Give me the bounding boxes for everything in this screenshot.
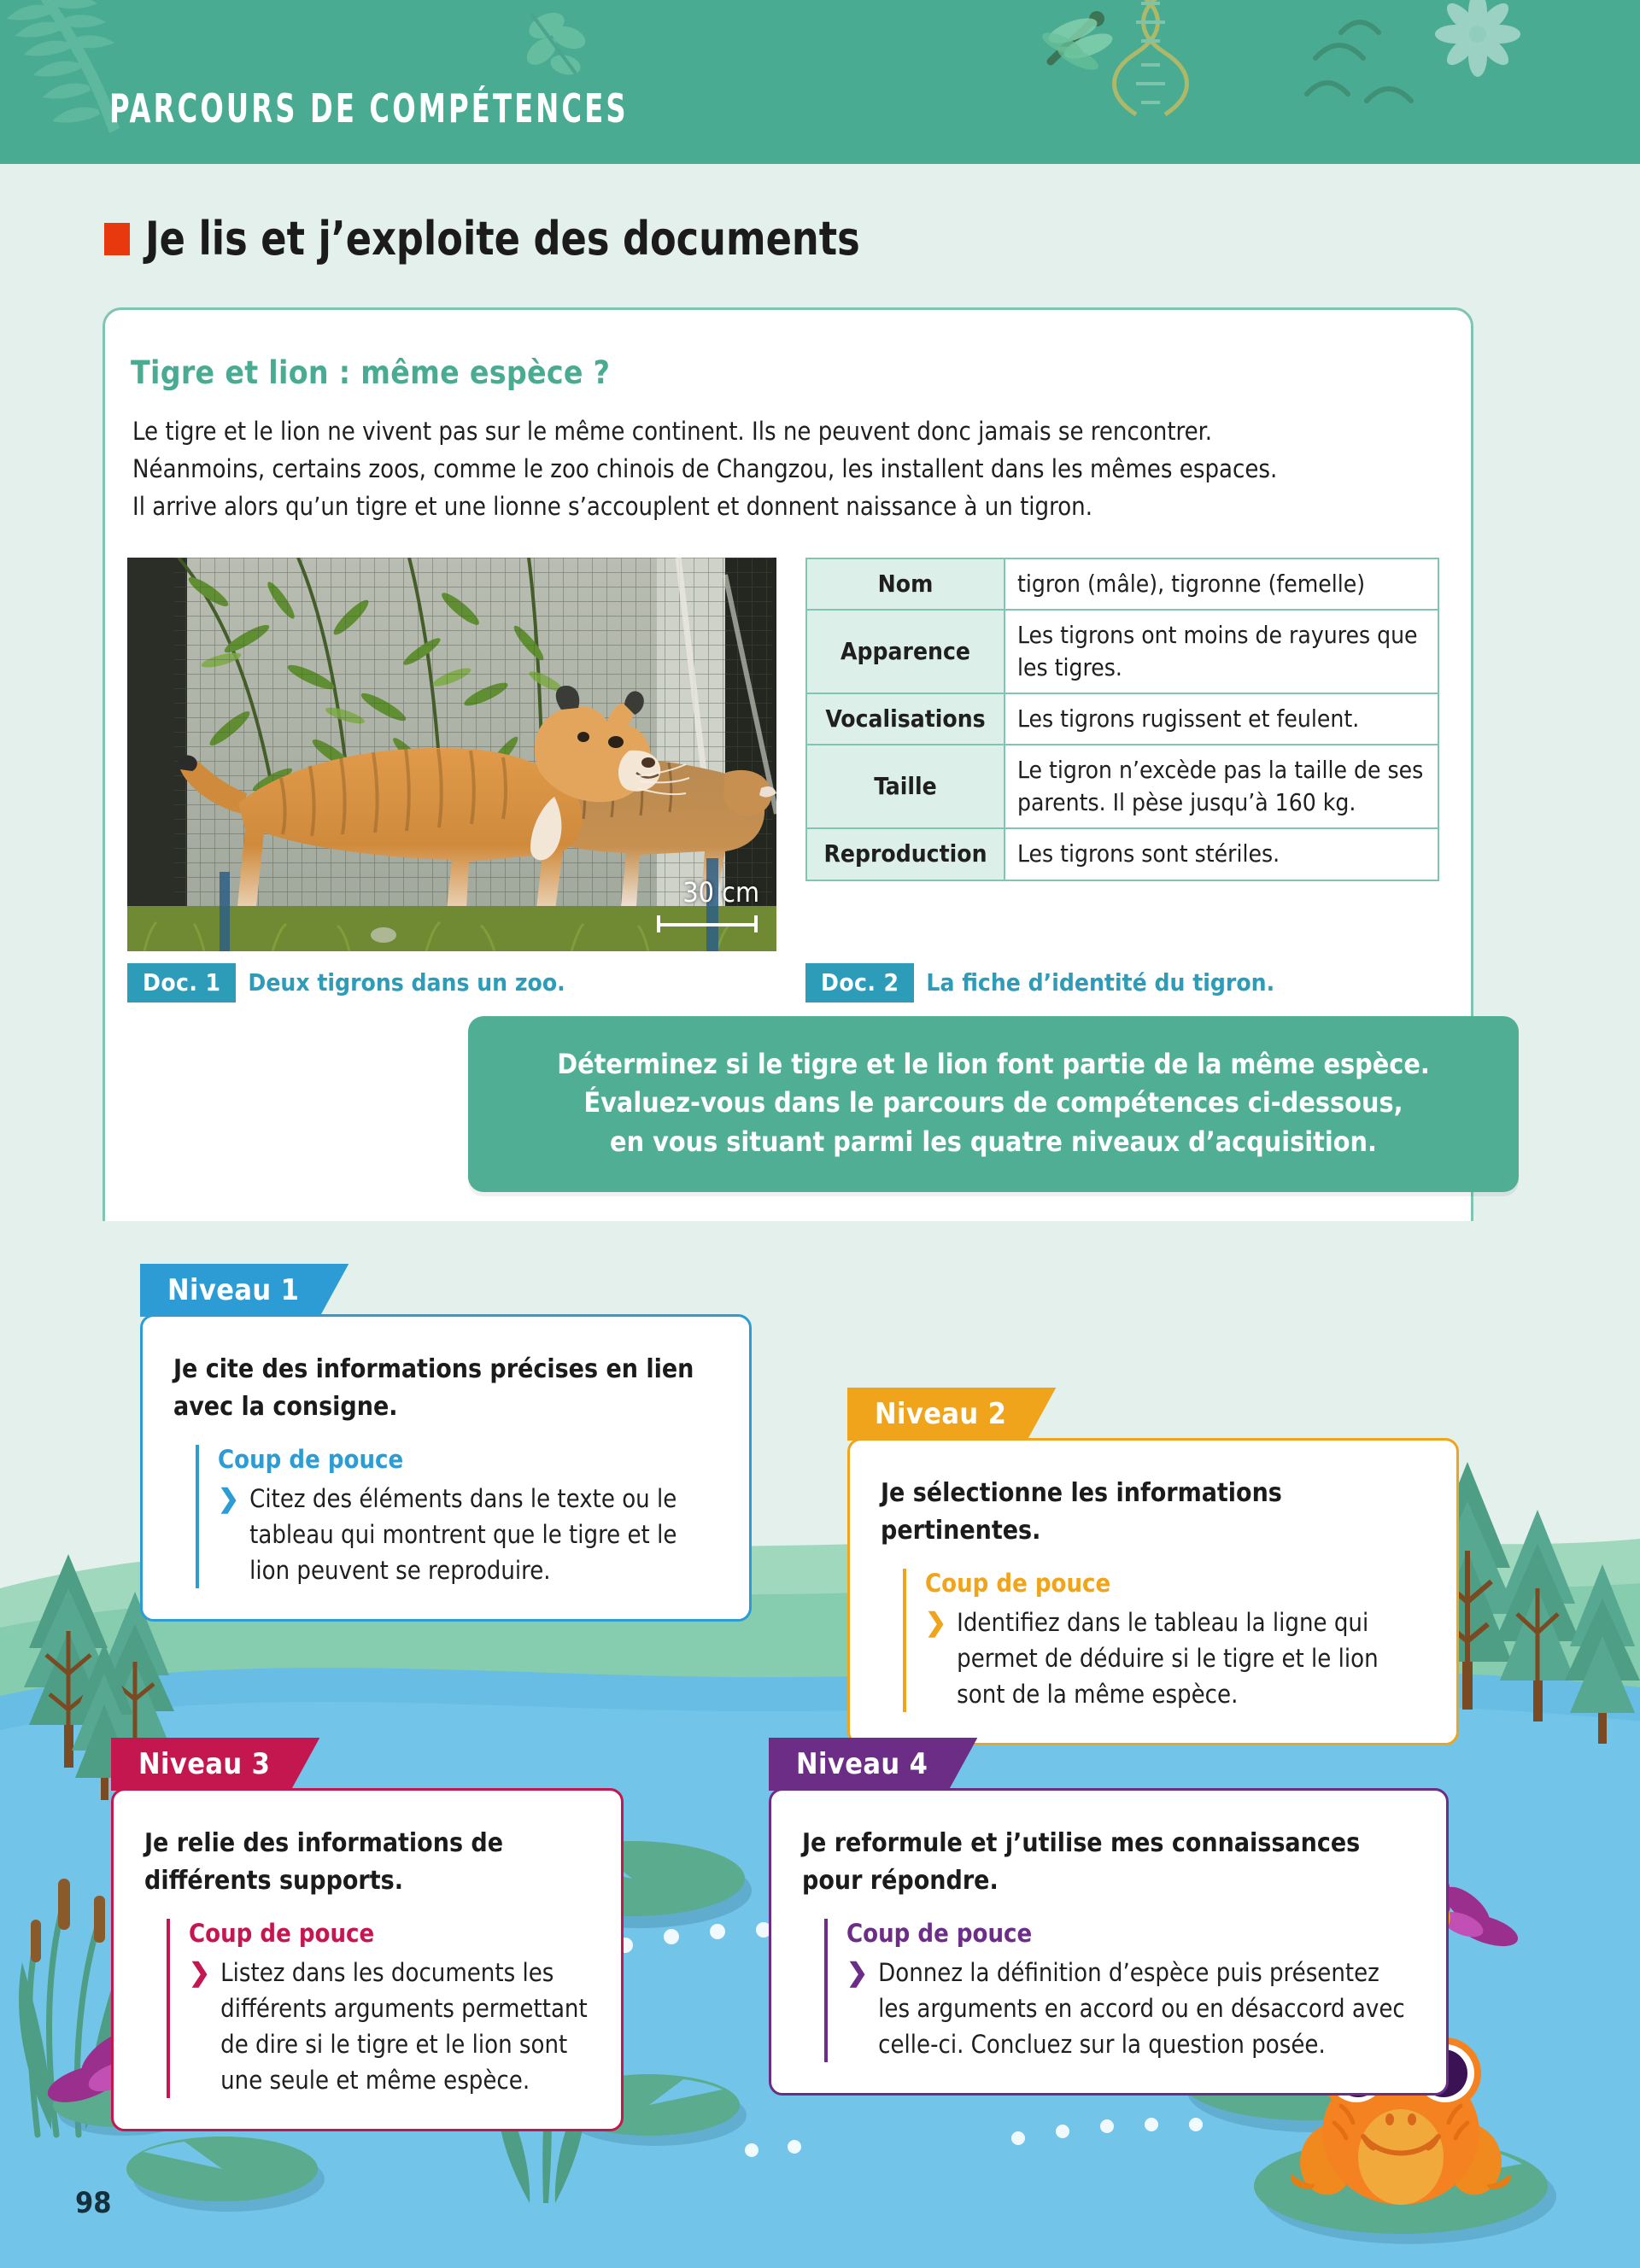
page-title: Je lis et j’exploite des documents bbox=[104, 212, 922, 266]
hint-text: Listez dans les documents les différents… bbox=[220, 1955, 590, 2098]
hint-accent-bar bbox=[196, 1445, 199, 1588]
document-intro-text: Le tigre et le lion ne vivent pas sur le… bbox=[132, 412, 1328, 525]
table-row: Vocalisations Les tigrons rugissent et f… bbox=[806, 693, 1438, 745]
doc1-photo: 30 cm bbox=[127, 558, 776, 951]
level-1-tab: Niveau 1 bbox=[140, 1264, 348, 1317]
photo-scale-label: 30 cm bbox=[682, 876, 759, 909]
level-4-tab: Niveau 4 bbox=[769, 1738, 977, 1791]
doc1-caption-text: Deux tigrons dans un zoo. bbox=[236, 963, 565, 1002]
table-value: Les tigrons rugissent et feulent. bbox=[1004, 693, 1438, 745]
table-row: Taille Le tigron n’excède pas la taille … bbox=[806, 745, 1438, 828]
table-value: tigron (mâle), tigronne (femelle) bbox=[1004, 558, 1438, 610]
table-row: Reproduction Les tigrons sont stériles. bbox=[806, 828, 1438, 880]
hint-text: Identifiez dans le tableau la ligne qui … bbox=[957, 1605, 1426, 1712]
chevron-right-icon: ❯ bbox=[925, 1605, 946, 1642]
table-row: Nom tigron (mâle), tigronne (femelle) bbox=[806, 558, 1438, 610]
level-2-statement: Je sélectionne les informations pertinen… bbox=[881, 1475, 1426, 1550]
level-1-statement: Je cite des informations précises en lie… bbox=[173, 1351, 718, 1426]
level-card-1: Niveau 1 Je cite des informations précis… bbox=[140, 1264, 752, 1622]
instruction-line-1: Déterminez si le tigre et le lion font p… bbox=[502, 1045, 1485, 1084]
hint-text: Citez des éléments dans le texte ou le t… bbox=[249, 1481, 718, 1588]
doc1-badge: Doc. 1 bbox=[127, 963, 236, 1002]
hint-text: Donnez la définition d’espèce puis prése… bbox=[878, 1955, 1415, 2062]
page-number: 98 bbox=[75, 2186, 112, 2220]
table-value: Le tigron n’excède pas la taille de ses … bbox=[1004, 745, 1438, 828]
banner-title: PARCOURS DE COMPÉTENCES bbox=[109, 85, 629, 132]
photo-scale-bar bbox=[657, 915, 758, 932]
hint-title: Coup de pouce bbox=[189, 1919, 590, 1948]
table-row: Apparence Les tigrons ont moins de rayur… bbox=[806, 610, 1438, 693]
level-4-hint: Coup de pouce ❯ Donnez la définition d’e… bbox=[802, 1919, 1415, 2062]
level-4-statement: Je reformule et j’utilise mes connaissan… bbox=[802, 1825, 1415, 1900]
table-key: Taille bbox=[806, 745, 1004, 828]
level-2-body: Je sélectionne les informations pertinen… bbox=[847, 1438, 1459, 1745]
instruction-line-3: en vous situant parmi les quatre niveaux… bbox=[502, 1123, 1485, 1161]
intro-line-1: Le tigre et le lion ne vivent pas sur le… bbox=[132, 412, 1328, 450]
level-card-4: Niveau 4 Je reformule et j’utilise mes c… bbox=[769, 1738, 1449, 2096]
chevron-right-icon: ❯ bbox=[846, 1955, 868, 1992]
level-card-3: Niveau 3 Je relie des informations de di… bbox=[111, 1738, 624, 2131]
chevron-right-icon: ❯ bbox=[189, 1955, 210, 1992]
hint-title: Coup de pouce bbox=[925, 1569, 1426, 1598]
chevron-right-icon: ❯ bbox=[218, 1481, 239, 1518]
heading-bullet-square bbox=[104, 223, 130, 255]
banner-decorations bbox=[0, 0, 1640, 164]
level-2-hint: Coup de pouce ❯ Identifiez dans le table… bbox=[881, 1569, 1426, 1712]
textbook-page: PARCOURS DE COMPÉTENCES Je lis et j’expl… bbox=[0, 0, 1640, 2268]
intro-line-2: Néanmoins, certains zoos, comme le zoo c… bbox=[132, 450, 1328, 488]
instruction-box: Déterminez si le tigre et le lion font p… bbox=[468, 1016, 1519, 1192]
level-2-tab: Niveau 2 bbox=[847, 1388, 1056, 1441]
table-key: Nom bbox=[806, 558, 1004, 610]
level-3-tab: Niveau 3 bbox=[111, 1738, 319, 1791]
table-value: Les tigrons sont stériles. bbox=[1004, 828, 1438, 880]
level-1-body: Je cite des informations précises en lie… bbox=[140, 1314, 752, 1622]
doc2-badge: Doc. 2 bbox=[805, 963, 914, 1002]
document-card-title: Tigre et lion : même espèce ? bbox=[131, 354, 610, 391]
hint-title: Coup de pouce bbox=[846, 1919, 1415, 1948]
tigon-identity-table: Nom tigron (mâle), tigronne (femelle) Ap… bbox=[805, 558, 1439, 881]
level-3-hint: Coup de pouce ❯ Listez dans les document… bbox=[144, 1919, 590, 2098]
table-key: Vocalisations bbox=[806, 693, 1004, 745]
level-3-body: Je relie des informations de différents … bbox=[111, 1788, 624, 2131]
table-key: Apparence bbox=[806, 610, 1004, 693]
level-card-2: Niveau 2 Je sélectionne les informations… bbox=[847, 1388, 1459, 1745]
doc1-caption: Doc. 1 Deux tigrons dans un zoo. bbox=[127, 963, 565, 1002]
table-key: Reproduction bbox=[806, 828, 1004, 880]
level-4-body: Je reformule et j’utilise mes connaissan… bbox=[769, 1788, 1449, 2096]
hint-accent-bar bbox=[167, 1919, 170, 2098]
intro-line-3: Il arrive alors qu’un tigre et une lionn… bbox=[132, 488, 1328, 525]
page-title-text: Je lis et j’exploite des documents bbox=[145, 212, 860, 266]
page-banner: PARCOURS DE COMPÉTENCES bbox=[0, 0, 1640, 164]
hint-accent-bar bbox=[824, 1919, 828, 2062]
level-3-statement: Je relie des informations de différents … bbox=[144, 1825, 590, 1900]
doc2-caption-text: La fiche d’identité du tigron. bbox=[914, 963, 1274, 1002]
hint-title: Coup de pouce bbox=[218, 1445, 718, 1474]
instruction-line-2: Évaluez-vous dans le parcours de compéte… bbox=[502, 1084, 1485, 1122]
level-1-hint: Coup de pouce ❯ Citez des éléments dans … bbox=[173, 1445, 718, 1588]
hint-accent-bar bbox=[903, 1569, 906, 1712]
table-value: Les tigrons ont moins de rayures que les… bbox=[1004, 610, 1438, 693]
tigon-photo-illustration bbox=[127, 558, 776, 951]
doc2-caption: Doc. 2 La fiche d’identité du tigron. bbox=[805, 963, 1274, 1002]
